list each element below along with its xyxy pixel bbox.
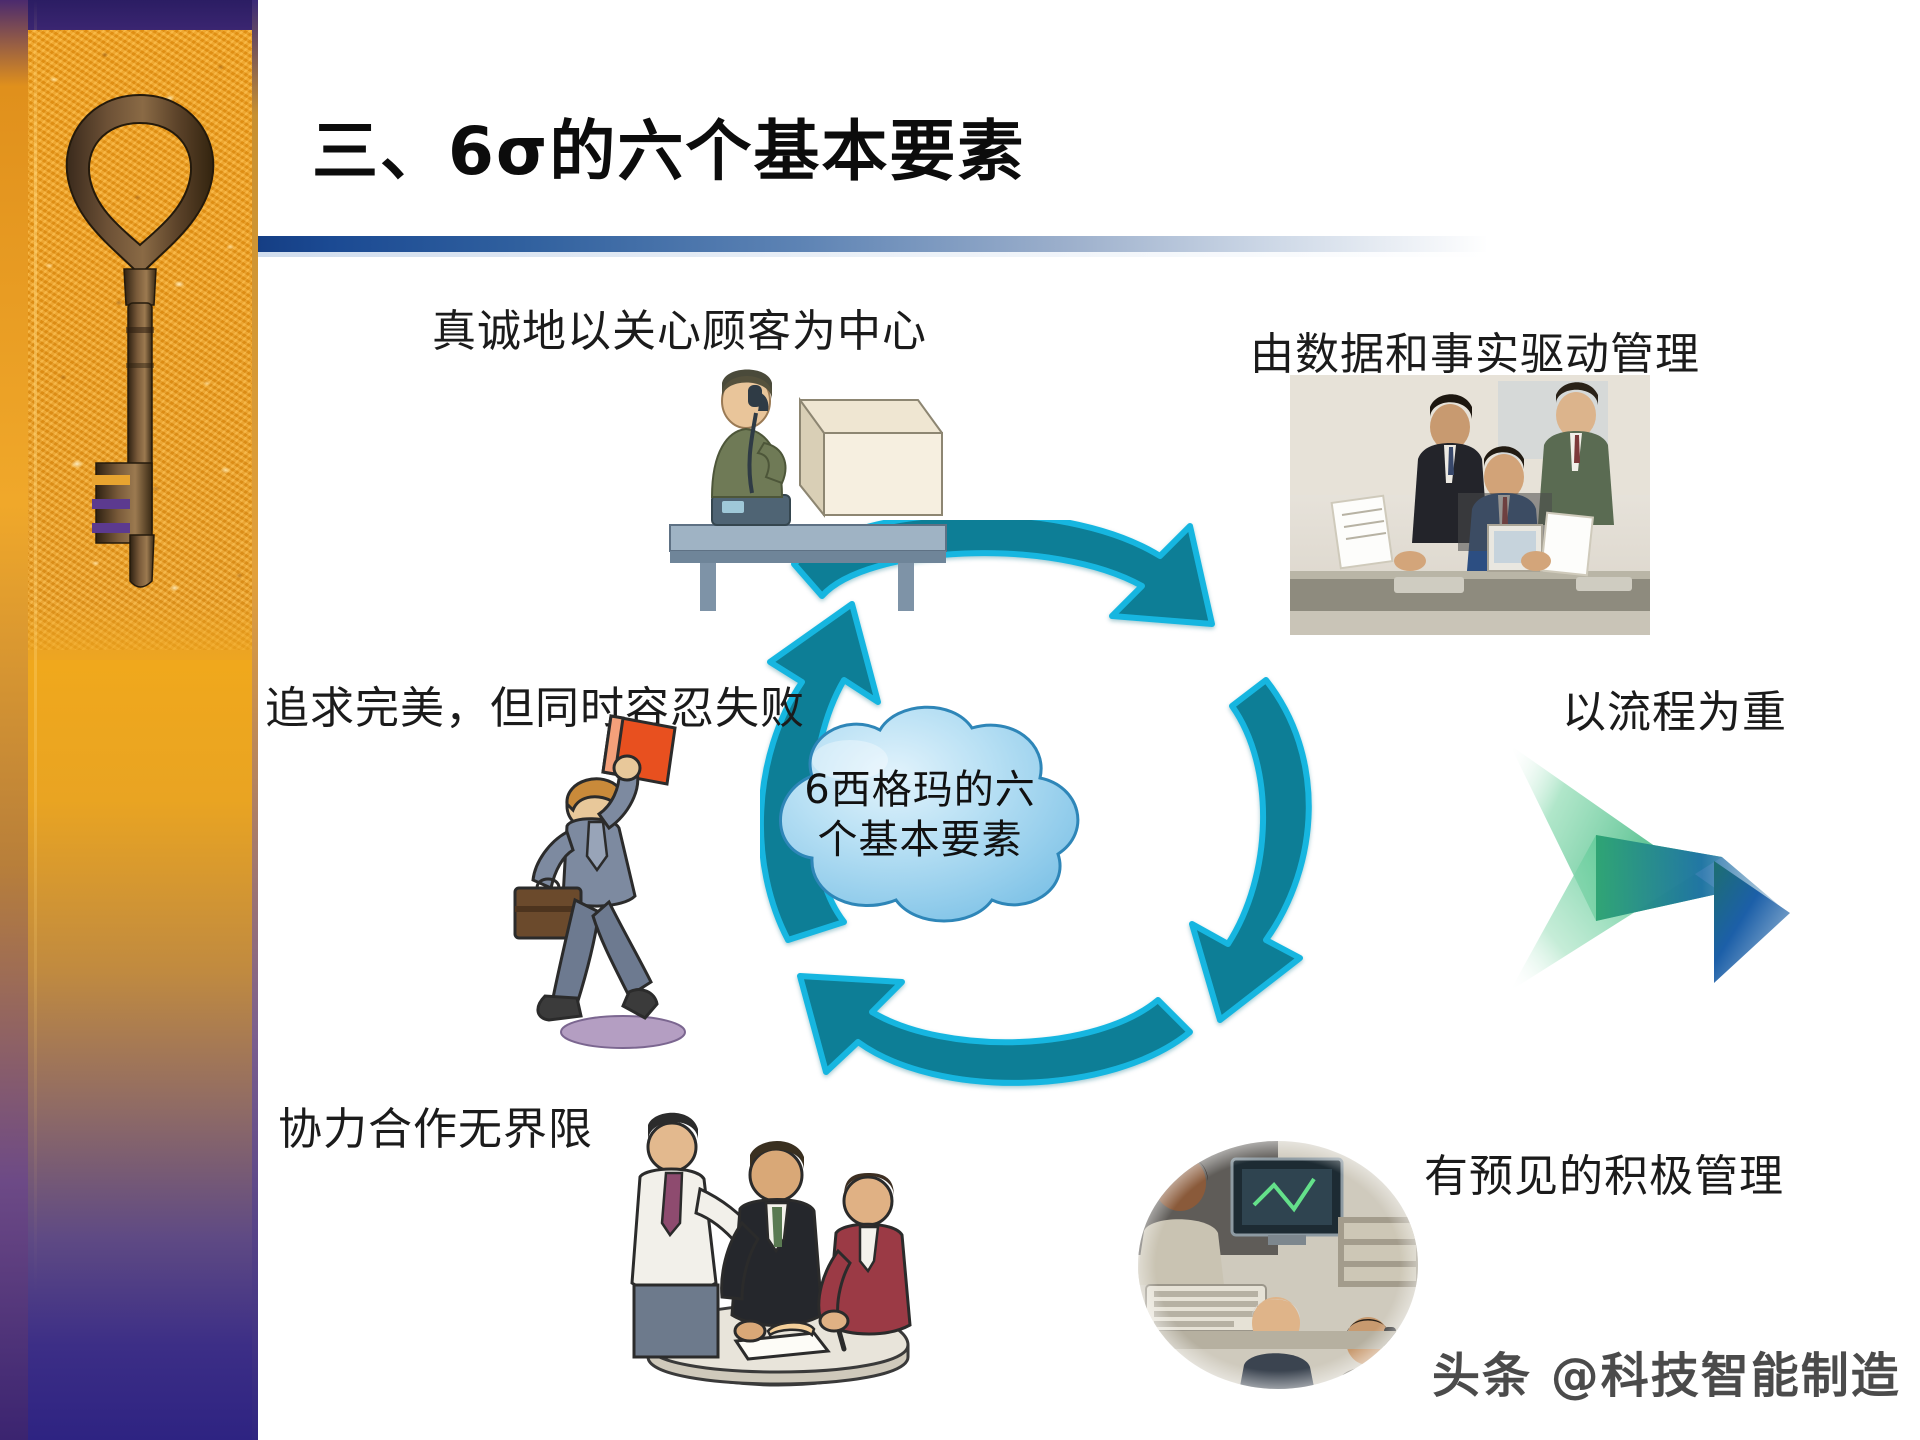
label-proactive-management: 有预见的积极管理 [1424, 1140, 1784, 1204]
label-customer-focus: 真诚地以关心顾客为中心 [432, 295, 927, 359]
sidebar-highlight [34, 0, 37, 1440]
process-arrow-icon [1500, 735, 1830, 1005]
antique-key-icon [50, 75, 230, 605]
title-divider-shadow [258, 252, 1488, 257]
business-meeting-photo [1290, 375, 1650, 635]
label-boundaryless-collaboration: 协力合作无界限 [278, 1093, 593, 1157]
sidebar-outer-edge [0, 0, 28, 1440]
office-montage-photo [1128, 1135, 1428, 1395]
label-process-focus: 以流程为重 [1562, 676, 1787, 740]
sidebar-lower-gradient [26, 660, 258, 1440]
title-divider [258, 236, 1488, 252]
sidebar-right-edge [252, 0, 258, 1440]
slide-canvas: 三、6σ的六个基本要素 [0, 0, 1920, 1440]
decorative-sidebar [0, 0, 258, 1440]
businessman-celebrating-icon [505, 710, 735, 1050]
customer-service-phone-icon [660, 365, 960, 615]
label-data-driven: 由数据和事实驱动管理 [1250, 318, 1700, 382]
team-collaboration-icon [600, 1095, 930, 1395]
watermark: 头条 @科技智能制造 [1432, 1336, 1901, 1406]
page-title: 三、6σ的六个基本要素 [312, 98, 1025, 194]
